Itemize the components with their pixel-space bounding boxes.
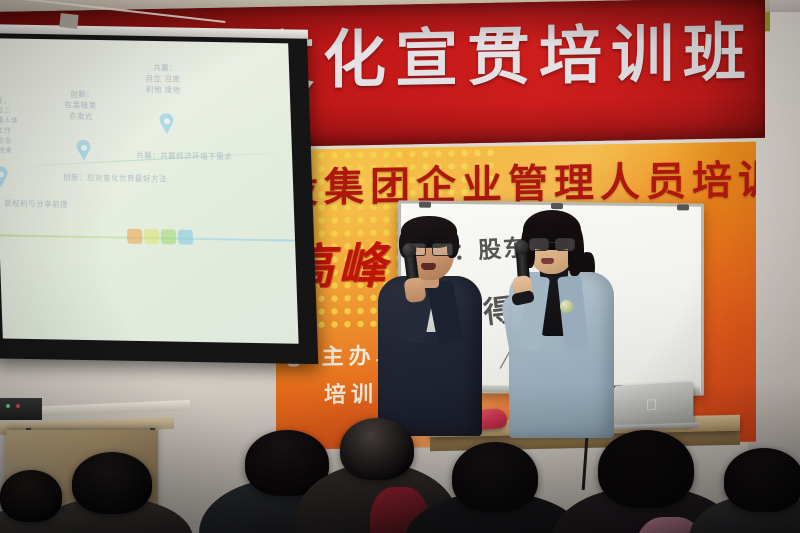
- slide-left-block-line-1: 创新：: [70, 90, 94, 100]
- whiteboard-clip-center: [551, 203, 563, 209]
- slide-left-block-line-3: 亦发光: [69, 112, 93, 122]
- av-equipment-box: [0, 398, 42, 420]
- audience-head-3: [452, 442, 538, 512]
- whiteboard-clip-right: [677, 204, 689, 210]
- slide-logo-square-2: [144, 229, 160, 244]
- audience-head-7: [0, 470, 62, 522]
- screen-support-bracket: [59, 13, 78, 29]
- slide-far-left-line-4: 工作: [0, 126, 12, 135]
- equipment-led-red: [16, 404, 20, 408]
- slide-far-left-line-2: 目二: [0, 106, 11, 115]
- slide-far-left-line-1: 在，: [0, 96, 11, 105]
- seminar-photo-scene: 设集团企业管理人员培训班 高峰 心 主办单位 培训 一六年 文化宣贯培训班 ：股…: [0, 0, 800, 533]
- audience-head-4: [598, 430, 694, 508]
- slide-far-left-line-5: 全会: [0, 136, 12, 145]
- map-pin-icon-left: [0, 166, 9, 187]
- map-pin-icon-right: [159, 113, 175, 134]
- slide-caption-center: 创新：应对变化世界最好方法: [63, 173, 167, 185]
- projection-screen-frame: 共赢： 自立 自度 利他 度他 创新： 在黑暗里 亦发光 在， 目二 重人体 工…: [0, 28, 318, 364]
- female-mouth: [541, 258, 554, 264]
- projection-screen-surface: 共赢： 自立 自度 利他 度他 创新： 在黑暗里 亦发光 在， 目二 重人体 工…: [0, 38, 299, 344]
- male-lens-right: [432, 243, 453, 256]
- audience-head-6: [72, 452, 152, 514]
- slide-logo-square-4: [178, 230, 194, 245]
- audience-head-2: [340, 418, 414, 480]
- male-hand: [403, 277, 426, 304]
- slide-headline-line-2: 利他 度他: [146, 85, 181, 96]
- equipment-led-green: [6, 404, 10, 408]
- presentation-slide: 共赢： 自立 自度 利他 度他 创新： 在黑暗里 亦发光 在， 目二 重人体 工…: [0, 38, 299, 344]
- slide-headline-line-1: 自立 自度: [145, 74, 180, 85]
- slide-left-block-line-2: 在黑暗里: [64, 100, 96, 111]
- male-mouth: [421, 263, 436, 270]
- female-brooch: [560, 300, 573, 313]
- male-brow-right: [434, 240, 450, 242]
- slide-caption-right: 共赢：共赢经济环境下需求: [136, 151, 232, 163]
- whiteboard-clip-left: [419, 202, 431, 208]
- map-pin-icon-center: [76, 140, 92, 161]
- slide-logo-square-1: [127, 229, 143, 244]
- slide-far-left-line-6: 他来: [0, 146, 12, 155]
- apple-logo-icon: : [645, 398, 658, 413]
- audience-head-5: [724, 448, 800, 512]
- female-glasses-icon: [529, 238, 575, 249]
- slide-headline-center: 共赢：: [153, 63, 177, 73]
- slide-far-left-line-3: 重人体: [0, 116, 18, 125]
- male-brow-left: [408, 240, 424, 242]
- slide-logo-square-3: [161, 229, 177, 244]
- macbook-laptop: : [614, 382, 694, 427]
- slide-caption-bottom: ：是权利与分享前提: [0, 198, 68, 209]
- female-lens-right: [555, 238, 575, 251]
- slide-logo-row: [127, 229, 193, 245]
- female-lens-left: [529, 238, 549, 251]
